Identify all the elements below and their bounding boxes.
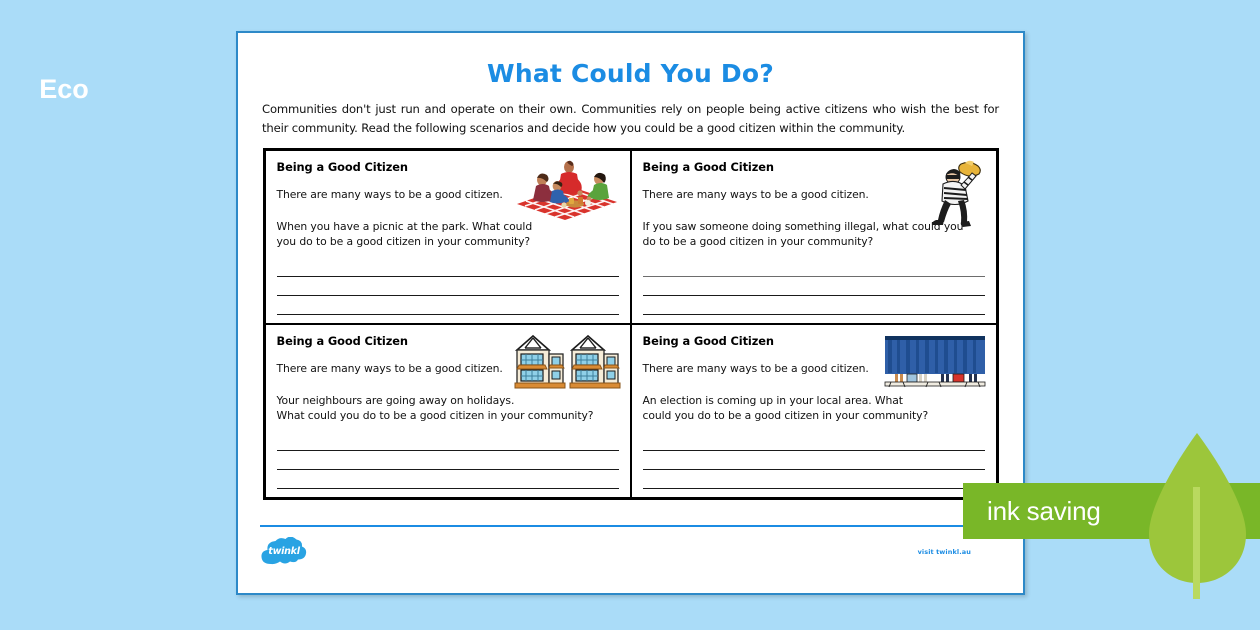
scenario-cell-picnic: Being a Good Citizen There are many ways…: [265, 150, 631, 324]
answer-line[interactable]: [277, 451, 619, 470]
answer-line[interactable]: [277, 277, 619, 296]
semi-detached-houses-illustration: [513, 334, 621, 396]
answer-lines[interactable]: [643, 432, 985, 491]
ink-saving-label: ink saving: [987, 496, 1101, 527]
answer-line[interactable]: [643, 258, 985, 277]
twinkl-wordmark: twinkl: [260, 546, 308, 557]
intro-paragraph: Communities don't just run and operate o…: [260, 100, 1001, 138]
scenario-question: An election is coming up in your local a…: [643, 393, 985, 424]
answer-line[interactable]: [643, 277, 985, 296]
answer-line[interactable]: [643, 296, 985, 315]
answer-line[interactable]: [643, 432, 985, 451]
scenario-grid: Being a Good Citizen There are many ways…: [263, 148, 999, 500]
twinkl-logo[interactable]: twinkl: [260, 537, 308, 567]
scenario-cell-election: Being a Good Citizen There are many ways…: [631, 324, 997, 498]
answer-lines[interactable]: [277, 258, 619, 317]
eco-label: Eco: [14, 74, 114, 105]
family-picnic-illustration: [509, 160, 621, 226]
burglar-illustration: [925, 160, 987, 232]
footer-divider: [260, 525, 1001, 527]
footer: twinkl visit twinkl.au: [260, 525, 1001, 581]
scenario-question: Your neighbours are going away on holida…: [277, 393, 619, 424]
page-title: What Could You Do?: [260, 59, 1001, 88]
polling-booths-illustration: [883, 334, 987, 393]
answer-line[interactable]: [277, 470, 619, 489]
answer-line[interactable]: [277, 432, 619, 451]
answer-line[interactable]: [643, 451, 985, 470]
scenario-cell-neighbours: Being a Good Citizen There are many ways…: [265, 324, 631, 498]
answer-lines[interactable]: [643, 258, 985, 317]
answer-lines[interactable]: [277, 432, 619, 491]
visit-twinkl-link[interactable]: visit twinkl.au: [918, 548, 971, 556]
answer-line[interactable]: [277, 258, 619, 277]
scenario-cell-illegal-activity: Being a Good Citizen There are many ways…: [631, 150, 997, 324]
ink-saving-eco-badge: ink saving: [963, 483, 1260, 539]
answer-line[interactable]: [643, 470, 985, 489]
answer-line[interactable]: [277, 296, 619, 315]
worksheet-page: What Could You Do? Communities don't jus…: [236, 31, 1025, 595]
